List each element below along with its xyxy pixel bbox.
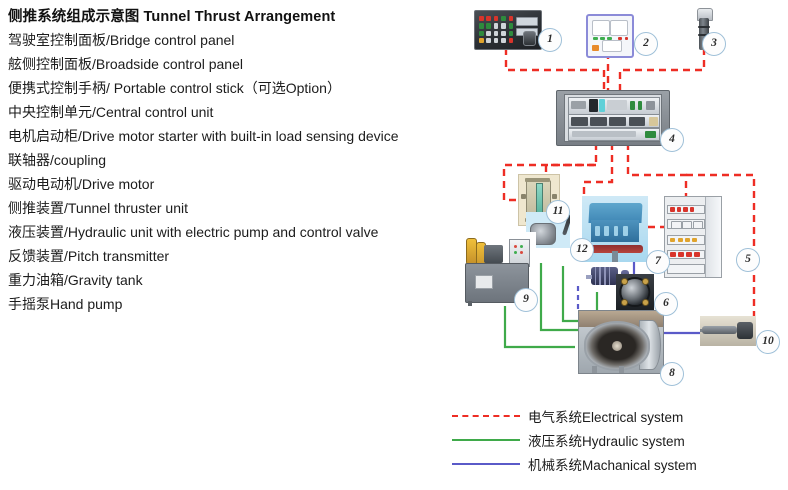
legend-label-electrical: 电气系统Electrical system — [528, 406, 683, 426]
ccu-interior — [564, 94, 663, 142]
hydraulic-filter-1 — [466, 238, 476, 265]
legend-swatch-electrical — [452, 415, 520, 417]
hydraulic-nameplate — [475, 275, 493, 289]
pitch-transmitter-art — [700, 316, 756, 346]
system-legend: 电气系统Electrical system 液压系统Hydraulic syst… — [452, 404, 782, 476]
gravity-tank-port-left — [521, 194, 526, 199]
starter-rail-1 — [667, 205, 705, 214]
wire-hpu-to-thruster — [541, 263, 582, 330]
thruster-head-shaft — [612, 251, 617, 262]
badge-8: 8 — [660, 362, 684, 386]
broadside-screen-right — [610, 20, 629, 36]
drive-motor-shaft — [586, 275, 592, 279]
pitch-transmitter-body — [702, 326, 737, 334]
starter-rail-3 — [667, 235, 705, 244]
badge-11: 11 — [546, 200, 570, 224]
central-control-unit[interactable] — [556, 90, 668, 144]
pitch-transmitter[interactable] — [700, 316, 756, 346]
broadside-control-panel-art — [586, 14, 634, 58]
ccu-shelf-bottom — [568, 128, 661, 141]
badge-3: 3 — [702, 32, 726, 56]
bridge-control-panel-art — [474, 10, 542, 50]
central-control-unit-art — [556, 90, 670, 146]
bridge-panel-display-top — [516, 17, 538, 25]
bridge-panel-knob[interactable] — [523, 31, 536, 46]
legend-row-mechanical: 机械系统Machanical system — [452, 452, 782, 476]
legend-swatch-hydraulic — [452, 439, 520, 441]
bridge-panel-keypad — [479, 16, 513, 43]
badge-4: 4 — [660, 128, 684, 152]
legend-label-hydraulic: 液压系统Hydraulic system — [528, 430, 685, 450]
broadside-screen-bottom — [602, 40, 622, 52]
legend-swatch-mechanical — [452, 463, 520, 465]
tunnel-thruster-art — [578, 310, 664, 374]
thruster-tunnel-bore — [584, 321, 650, 371]
badge-6: 6 — [654, 292, 678, 316]
starter-rail-4 — [667, 250, 705, 259]
pitch-transmitter-head — [737, 322, 753, 339]
legend-row-electrical: 电气系统Electrical system — [452, 404, 782, 428]
diagram-canvas: 侧推系统组成示意图 Tunnel Thrust Arrangement 驾驶室控… — [0, 0, 788, 490]
badge-7: 7 — [646, 250, 670, 274]
legend-row-hydraulic: 液压系统Hydraulic system — [452, 428, 782, 452]
starter-door[interactable] — [705, 197, 721, 277]
badge-12: 12 — [570, 238, 594, 262]
ccu-shelf-top — [568, 97, 661, 114]
badge-1: 1 — [538, 28, 562, 52]
bridge-control-panel[interactable] — [474, 10, 540, 48]
drive-motor-starter-art — [664, 196, 722, 278]
drive-motor-starter[interactable] — [664, 196, 720, 276]
broadside-screen-left — [592, 20, 611, 36]
wire-ccu-to-starter — [628, 143, 686, 200]
broadside-control-panel[interactable] — [586, 14, 630, 54]
starter-rail-2 — [667, 219, 705, 228]
badge-5: 5 — [736, 248, 760, 272]
coupling-art — [616, 274, 654, 310]
badge-10: 10 — [756, 330, 780, 354]
gravity-tank-port-right — [552, 194, 557, 199]
stick-ring-upper — [698, 26, 710, 28]
thruster-propeller-hub — [612, 341, 622, 351]
coupling[interactable] — [616, 274, 654, 310]
badge-2: 2 — [634, 32, 658, 56]
legend-label-mechanical: 机械系统Machanical system — [528, 454, 697, 474]
gravity-tank-cap-top — [525, 178, 551, 182]
badge-9: 9 — [514, 288, 538, 312]
tunnel-thruster-unit[interactable] — [578, 310, 662, 372]
starter-rail-5 — [667, 264, 705, 274]
wire-hpu-return — [505, 306, 575, 347]
ccu-shelf-middle — [568, 114, 661, 128]
hydraulic-pump-motor — [484, 245, 503, 263]
